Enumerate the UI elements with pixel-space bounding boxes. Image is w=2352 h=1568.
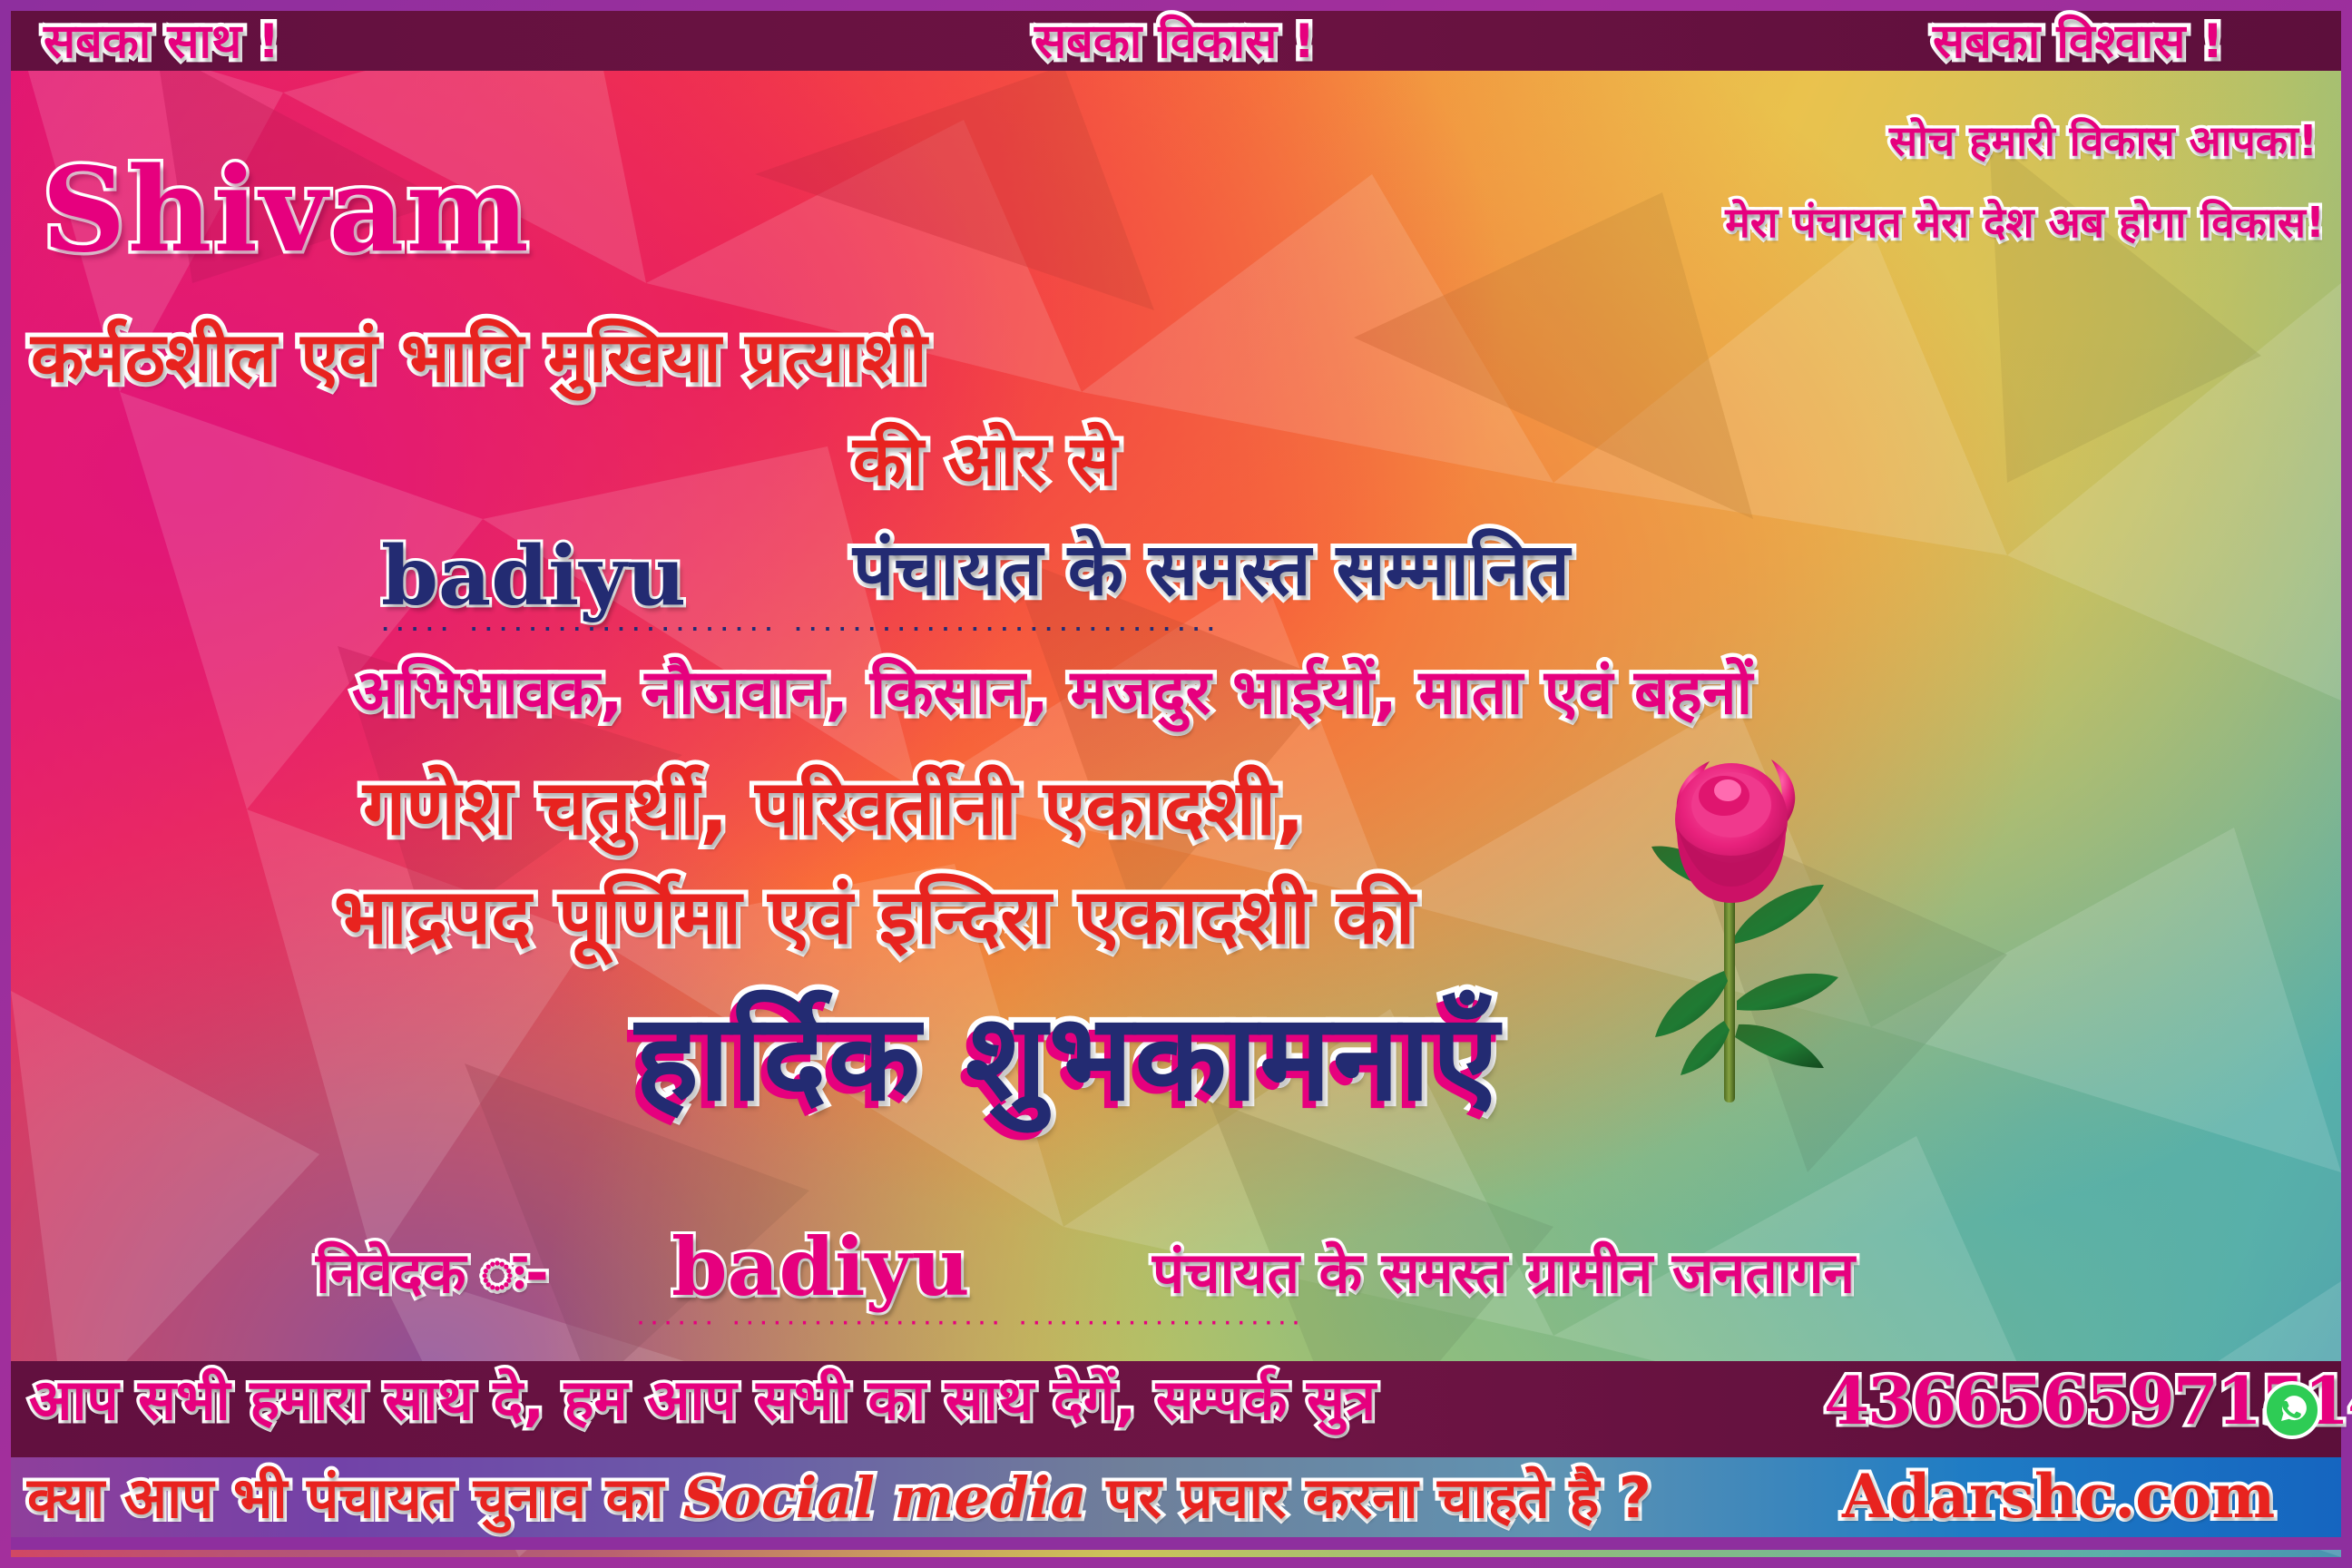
watermark-bottom: badiyu — [671, 1227, 970, 1307]
tagline-line-1: सोच हमारी विकास आपका! — [1889, 120, 2318, 162]
whatsapp-icon[interactable] — [2261, 1379, 2323, 1441]
footer-social-media-label: Social media — [683, 1465, 1087, 1531]
footer-question-text: क्या आप भी पंचायत चुनाव का Social media … — [27, 1470, 1651, 1526]
rose-icon — [1633, 749, 1869, 1112]
watermark-bottom-dots: ······ ···················· ············… — [635, 1312, 1304, 1334]
slogan-right: सबका विश्वास ! — [1933, 18, 2223, 65]
festival-line-1: गणेश चतुर्थी, परिवर्तीनी एकादशी, — [363, 769, 1305, 846]
festival-line-2: भाद्रपद पूर्णिमा एवं इन्दिरा एकादशी की — [334, 878, 1415, 955]
line-honored: पंचायत के समस्त सम्मानित — [853, 534, 1570, 606]
from-label: की ओर से — [853, 426, 1117, 495]
candidate-role: कर्मठशील एवं भावि मुखिया प्रत्याशी — [31, 323, 927, 392]
line-audience: अभिभावक, नौजवान, किसान, मजदुर भाईयों, मा… — [352, 662, 1752, 724]
watermark-top-dots: ····· ····················· ············… — [379, 619, 1220, 642]
website-link[interactable]: Adarshc.com — [1842, 1466, 2275, 1526]
footer-question-part1: क्या आप भी पंचायत चुनाव का — [27, 1465, 683, 1531]
sender-group: पंचायत के समस्त ग्रामीन जनतागन — [1152, 1245, 1855, 1301]
footer-appeal-text: आप सभी हमारा साथ दे, हम आप सभी का साथ दे… — [29, 1372, 1376, 1428]
sender-label: निवेदक ः- — [316, 1245, 549, 1301]
slogan-middle: सबका विकास ! — [1034, 18, 1315, 65]
tagline-line-2: मेरा पंचायत मेरा देश अब होगा विकास! — [1725, 201, 2325, 243]
greeting-headline: हार्दिक शुभकामनाएँ — [635, 998, 1500, 1118]
watermark-top: badiyu — [381, 535, 686, 617]
footer-question-part2: पर प्रचार करना चाहते है ? — [1087, 1465, 1651, 1531]
slogan-left: सबका साथ ! — [44, 18, 279, 65]
candidate-name: Shivam — [42, 152, 531, 269]
poster-canvas: सबका साथ ! सबका विकास ! सबका विश्वास ! स… — [0, 0, 2352, 1568]
